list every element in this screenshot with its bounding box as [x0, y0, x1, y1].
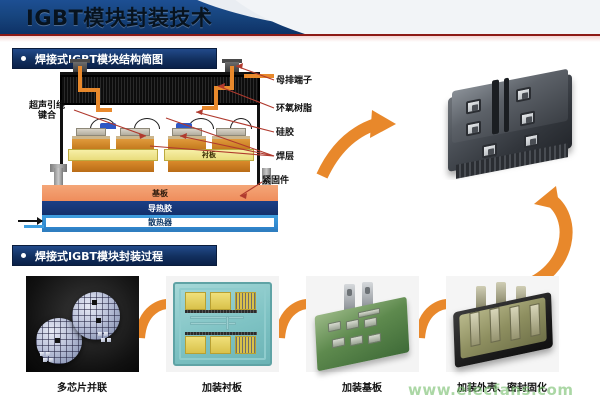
- section-header-process: 焊接式IGBT模块封装过程: [12, 245, 217, 266]
- wafer-die-mark-3: [96, 318, 101, 323]
- substrate-die-5: [210, 336, 231, 354]
- substrate-bond-wire-top: [185, 310, 257, 313]
- callout-fastener: 紧固件: [262, 176, 289, 186]
- process-step-1-image: [26, 276, 139, 372]
- loose-die-6: [104, 332, 108, 336]
- section-header-structure: 焊接式IGBT模块结构简图: [12, 48, 217, 69]
- conductor-right-3: [214, 86, 218, 108]
- slide-header: IGBT模块封装技术: [0, 0, 600, 34]
- pcb-terminal-tab-1: [344, 284, 355, 310]
- header-swoosh-front: [203, 0, 600, 34]
- substrate-die-2: [210, 292, 231, 310]
- arrow-process-to-module: [520, 186, 566, 288]
- substrate-die-3: [235, 292, 256, 310]
- coolant-inlet-pipe: [24, 225, 44, 228]
- housing-lead-1: [469, 311, 480, 347]
- copper-under-right: [168, 161, 250, 172]
- arrow-diagram-to-module: [322, 110, 396, 176]
- baseplate-label: 基板: [42, 185, 278, 201]
- callout-bond-line2: 键合: [22, 111, 72, 121]
- housing-lead-4: [529, 303, 540, 337]
- process-step-3-image: [306, 276, 419, 372]
- conductor-left-4: [96, 108, 112, 112]
- process-step-2-caption: 加装衬板: [147, 379, 297, 394]
- conductor-left-3: [96, 88, 100, 110]
- copper-carrier-b: [116, 139, 154, 149]
- process-step-1-caption: 多芯片并联: [7, 379, 157, 394]
- substrate-die-6: [235, 336, 256, 354]
- module-rail-2: [504, 78, 509, 133]
- wafer-die-mark-1: [55, 338, 60, 343]
- igbt-chip-b: [120, 128, 150, 136]
- substrate-trace-1: [190, 316, 244, 319]
- callout-busbar-terminal: 母排端子: [276, 76, 312, 86]
- conductor-right-1: [230, 66, 234, 88]
- bullet-dot-icon-2: [21, 253, 26, 258]
- substrate-die-1: [185, 292, 206, 310]
- substrate-trace-3: [226, 316, 229, 330]
- loose-die-7: [101, 338, 105, 342]
- process-step-4-image: [446, 276, 559, 372]
- copper-carrier-a: [72, 139, 110, 149]
- coolant-inlet-arrow-icon: [18, 220, 42, 222]
- wafer-die-mark-2: [92, 300, 97, 305]
- page-title: IGBT模块封装技术: [26, 2, 212, 32]
- substrate-bond-wire-bottom: [185, 332, 257, 335]
- housing-lead-2: [489, 307, 500, 343]
- copper-under-left: [72, 161, 154, 172]
- copper-carrier-d: [212, 139, 250, 149]
- header-gradient-rule: [0, 36, 600, 42]
- conductor-right-4: [202, 106, 218, 110]
- callout-solder-layer: 焊层: [276, 152, 294, 162]
- callout-bond-line1: 超声引线: [22, 101, 72, 111]
- callout-epoxy-resin: 环氧树脂: [276, 104, 312, 114]
- igbt-chip-d: [216, 128, 246, 136]
- igbt-structure-diagram: 衬板 基板 导热胶 散热器: [16, 72, 288, 232]
- section-label-process: 焊接式IGBT模块封装过程: [35, 248, 163, 264]
- substrate-label: 衬板: [164, 149, 254, 161]
- slide-canvas: IGBT模块封装技术 焊接式IGBT模块结构简图: [0, 0, 600, 403]
- conductor-right-5: [244, 74, 274, 78]
- site-watermark: www.elecfans.com: [408, 381, 600, 401]
- loose-die-2: [46, 352, 50, 356]
- process-step-2-image: [166, 276, 279, 372]
- igbt-chip-c: [172, 128, 202, 136]
- substrate-left: [68, 149, 158, 161]
- section-label-structure: 焊接式IGBT模块结构简图: [35, 51, 163, 67]
- loose-die-4: [49, 358, 53, 362]
- loose-die-3: [43, 358, 47, 362]
- substrate-die-4: [185, 336, 206, 354]
- substrate-trace-2: [190, 322, 236, 325]
- conductor-left-1: [78, 66, 82, 90]
- housing-lead-3: [509, 305, 520, 341]
- heatsink-label: 散热器: [42, 215, 278, 230]
- module-rail-1: [492, 79, 499, 134]
- bullet-dot-icon: [21, 56, 26, 61]
- loose-die-8: [107, 338, 111, 342]
- copper-carrier-c: [168, 139, 206, 149]
- loose-die-5: [98, 332, 102, 336]
- igbt-module-photo: [436, 62, 586, 180]
- loose-die-1: [40, 352, 44, 356]
- callout-ultrasonic-bonding: 超声引线 键合: [22, 101, 72, 122]
- callout-silicone-gel: 硅胶: [276, 128, 294, 138]
- thermal-grease-label: 导热胶: [42, 201, 278, 215]
- igbt-chip-a: [76, 128, 106, 136]
